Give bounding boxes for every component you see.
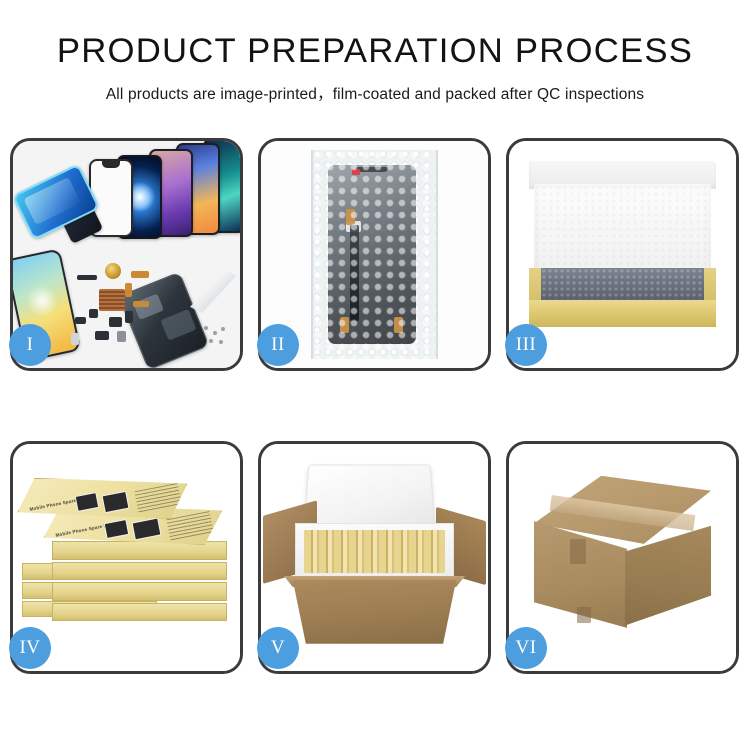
- small-part-4: [109, 317, 122, 327]
- step-badge-5: V: [257, 627, 299, 669]
- speaker-coil-part: [105, 263, 121, 279]
- stacked-box-right-3: [52, 582, 226, 601]
- step-panel-4: Mobile Phone Spare Parts Mobile Phone Sp…: [10, 441, 243, 674]
- screen-flex-cable: [350, 225, 359, 321]
- step-badge-3: III: [505, 324, 547, 366]
- step-panel-2: II: [258, 138, 491, 371]
- kraft-tray-front: [529, 300, 715, 327]
- small-part-6: [95, 331, 109, 340]
- flex-cable-2: [125, 283, 132, 297]
- foam-cooler-lid: [304, 465, 436, 531]
- kapton-tape-1: [346, 209, 355, 225]
- red-qc-sticker: [352, 169, 360, 175]
- kapton-tape-3: [394, 317, 403, 333]
- stacked-box-right-2: [52, 562, 226, 581]
- lid-phone-thumb-4: [132, 517, 161, 540]
- printed-box-lid-1: Mobile Phone Spare Parts: [18, 478, 188, 519]
- packed-screens-row: [541, 268, 704, 304]
- lid-phone-thumb-2: [101, 491, 129, 513]
- step-badge-2: II: [257, 324, 299, 366]
- product-preparation-infographic: PRODUCT PREPARATION PROCESS All products…: [0, 0, 750, 750]
- bubble-wrap-bag: [311, 150, 438, 359]
- small-part-1: [77, 275, 97, 280]
- kapton-tape-2: [340, 317, 349, 333]
- small-part-2: [89, 309, 98, 318]
- carton-tab-upper: [570, 539, 586, 564]
- step-badge-1: I: [9, 324, 51, 366]
- lid-spec-lines-2: [167, 511, 214, 541]
- packed-yellow-boxes: [304, 530, 445, 573]
- sim-tray-part: [71, 333, 79, 345]
- page-title: PRODUCT PREPARATION PROCESS: [0, 34, 750, 70]
- step-panel-5: V: [258, 441, 491, 674]
- flex-cable-3: [133, 301, 149, 307]
- process-steps-grid: I II: [10, 138, 740, 680]
- step-panel-6: VI: [506, 441, 739, 674]
- lid-spec-lines-1: [134, 483, 181, 513]
- stacked-box-right-4: [52, 603, 226, 622]
- small-part-5: [125, 311, 133, 323]
- flex-cable-1: [131, 271, 149, 278]
- small-part-3: [75, 317, 86, 324]
- carton-tab-lower: [577, 607, 591, 623]
- step-panel-3: III: [506, 138, 739, 371]
- copper-grid-part: [99, 289, 125, 311]
- camera-part: [117, 331, 126, 342]
- lid-phone-thumb-3: [103, 519, 129, 539]
- step-panel-1: I: [10, 138, 243, 371]
- retail-box-stack: Mobile Phone Spare Parts Mobile Phone Sp…: [18, 467, 236, 653]
- step-badge-6: VI: [505, 627, 547, 669]
- carton-body: [293, 580, 456, 644]
- white-foam-sheet: [534, 184, 711, 277]
- step-badge-4: IV: [9, 627, 51, 669]
- lid-phone-thumb-1: [74, 492, 99, 512]
- page-subtitle: All products are image-printed，film-coat…: [0, 82, 750, 104]
- header: PRODUCT PREPARATION PROCESS All products…: [0, 0, 750, 104]
- screws-group: [204, 326, 228, 346]
